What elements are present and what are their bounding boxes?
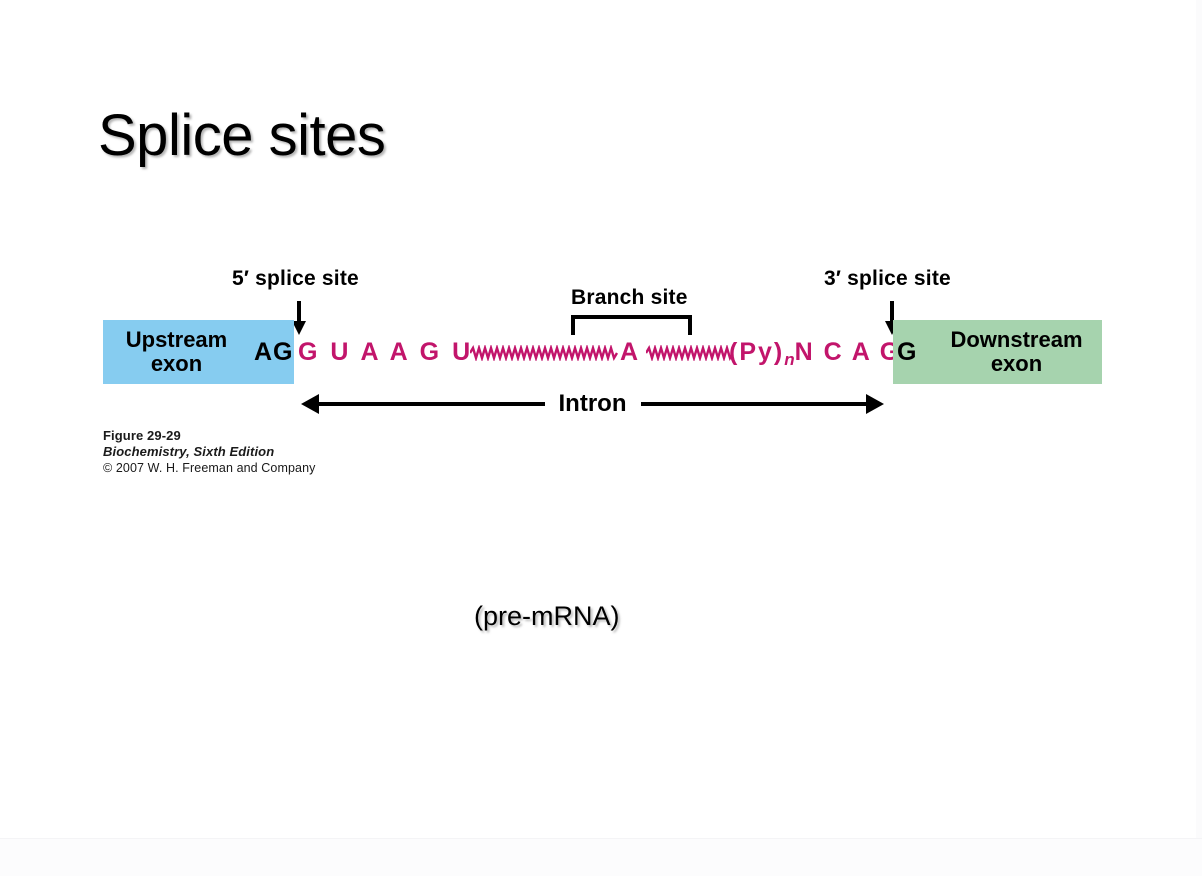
label-three-prime-splice-site: 3′ splice site (824, 267, 951, 291)
intron-squiggle-right (646, 345, 732, 361)
caption-copyright: © 2007 W. H. Freeman and Company (103, 461, 316, 475)
arrowhead-left-icon (301, 391, 319, 417)
pre-mrna-label: (pre-mRNA) (474, 601, 620, 632)
downstream-exon-line2: exon (991, 351, 1042, 376)
intron-span-line-left (319, 402, 545, 406)
downstream-exon-label: Downstream exon (893, 328, 1102, 376)
label-five-prime-splice-site: 5′ splice site (232, 267, 359, 291)
caption-figure-number: Figure 29-29 (103, 428, 316, 443)
downstream-exon-box: Downstream exon (893, 320, 1102, 384)
donor-consensus-sequence: G U A A G U (298, 338, 473, 367)
intron-span-arrow: Intron (301, 389, 884, 419)
label-branch-site: Branch site (571, 286, 688, 310)
branch-point-nucleotide: A (620, 338, 638, 367)
caption-source-title: Biochemistry, Sixth Edition (103, 444, 316, 459)
intron-span-line-right (641, 402, 867, 406)
downstream-exon-line1: Downstream (950, 327, 1082, 352)
polypyrimidine-tract: (Py) (729, 338, 784, 366)
acceptor-nucleotides: N C A G (795, 338, 902, 366)
acceptor-consensus-sequence: (Py)nN C A G (729, 338, 901, 370)
downstream-exon-flanking-nucleotide: G (897, 338, 917, 367)
polypyrimidine-subscript: n (784, 350, 794, 369)
figure-caption: Figure 29-29 Biochemistry, Sixth Edition… (103, 428, 316, 475)
upstream-exon-line1: Upstream (126, 327, 227, 352)
intron-label: Intron (545, 390, 641, 418)
upstream-exon-flanking-nucleotides: AG (254, 338, 294, 367)
branch-site-bracket (571, 315, 692, 335)
splice-site-diagram: 5′ splice site 3′ splice site Branch sit… (0, 0, 1202, 876)
arrowhead-right-icon (866, 391, 884, 417)
slide-canvas: Splice sites 5′ splice site 3′ splice si… (0, 0, 1202, 876)
intron-squiggle-left (470, 345, 622, 361)
upstream-exon-line2: exon (151, 351, 202, 376)
